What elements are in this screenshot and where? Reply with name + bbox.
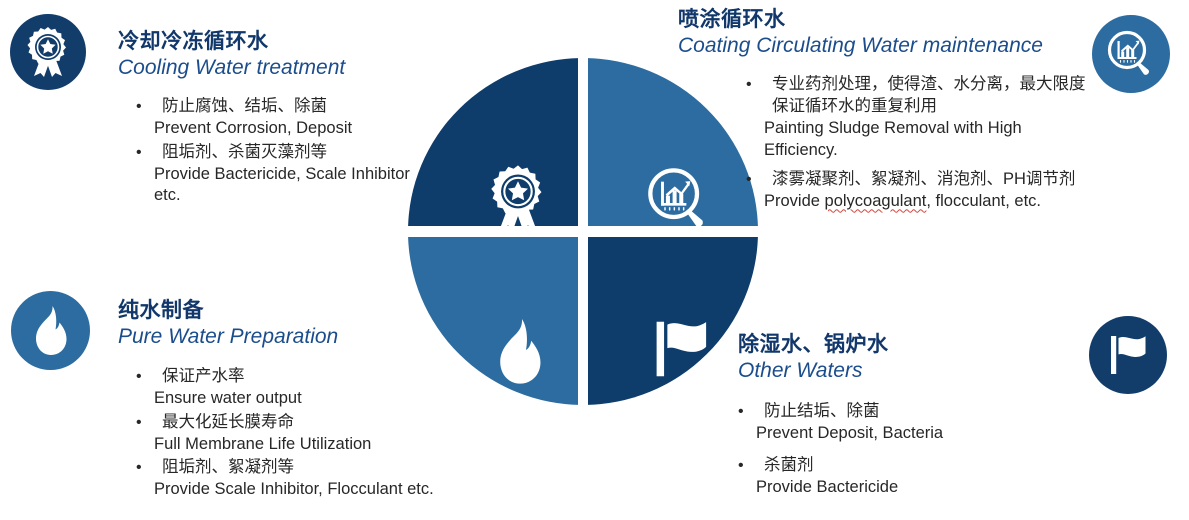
section-cooling-bullets: • 防止腐蚀、结垢、除菌 Prevent Corrosion, Deposit … (118, 96, 418, 208)
section-cooling-title-cn: 冷却冷冻循环水 (118, 30, 418, 54)
bullet-text-en: Prevent Deposit, Bacteria (756, 423, 1068, 445)
bullet-text-en: Prevent Corrosion, Deposit (154, 118, 418, 140)
bullet-marker: • (136, 142, 154, 163)
section-coating-water: 喷涂循环水 Coating Circulating Water maintena… (678, 8, 1098, 221)
chart-magnifier-icon (1107, 30, 1155, 78)
bullet-body: 保证产水率 Ensure water output (154, 366, 518, 410)
section-pure-title-cn: 纯水制备 (118, 299, 518, 323)
bullet-marker: • (136, 457, 154, 478)
bullet-body: 最大化延长膜寿命 Full Membrane Life Utilization (154, 412, 518, 456)
wheel-flag-icon-wrap (648, 316, 714, 382)
bullet-text-cn: 漆雾凝聚剂、絮凝剂、消泡剂、PH调节剂 (764, 169, 1098, 191)
flame-icon (493, 319, 547, 385)
bullet-marker: • (746, 74, 764, 95)
section-other-waters: 除湿水、锅炉水 Other Waters • 防止结垢、除菌 Prevent D… (738, 333, 1068, 508)
chart-magnifier-icon-circle (1092, 15, 1170, 93)
wheel-award-badge-icon-wrap (486, 166, 550, 230)
bullet-text-en-suffix: , flocculant, etc. (926, 192, 1041, 210)
bullet-marker: • (738, 401, 756, 422)
bullet-body: 防止结垢、除菌 Prevent Deposit, Bacteria (756, 401, 1068, 445)
bullet-text-en: Full Membrane Life Utilization (154, 434, 518, 456)
list-item: • 专业药剂处理，使得渣、水分离，最大限度保证循环水的重复利用 Painting… (746, 74, 1098, 162)
bullet-marker: • (136, 366, 154, 387)
section-coating-title-cn: 喷涂循环水 (678, 8, 1098, 32)
section-pure-water: 纯水制备 Pure Water Preparation • 保证产水率 Ensu… (118, 299, 518, 503)
bullet-marker: • (738, 455, 756, 476)
bullet-text-cn: 阻垢剂、絮凝剂等 (154, 457, 518, 479)
bullet-text-en: Provide Bactericide, Scale Inhibitor etc… (154, 164, 418, 208)
wheel-chart-magnifier-icon-wrap (646, 166, 712, 232)
list-item: • 阻垢剂、絮凝剂等 Provide Scale Inhibitor, Floc… (136, 457, 518, 501)
award-badge-icon-circle (10, 14, 86, 90)
award-badge-icon (25, 27, 71, 77)
bullet-text-cn: 最大化延长膜寿命 (154, 412, 518, 434)
flag-icon (1105, 332, 1151, 378)
bullet-text-cn: 保证产水率 (154, 366, 518, 388)
bullet-text-cn: 防止结垢、除菌 (756, 401, 1068, 423)
list-item: • 防止腐蚀、结垢、除菌 Prevent Corrosion, Deposit (136, 96, 418, 140)
section-other-bullets: • 防止结垢、除菌 Prevent Deposit, Bacteria • 杀菌… (738, 401, 1068, 499)
flame-icon (31, 306, 71, 356)
bullet-text-cn: 专业药剂处理，使得渣、水分离，最大限度保证循环水的重复利用 (764, 74, 1098, 118)
bullet-body: 阻垢剂、杀菌灭藻剂等 Provide Bactericide, Scale In… (154, 142, 418, 208)
misspelled-word[interactable]: polycoagulant (825, 192, 927, 210)
bullet-body: 阻垢剂、絮凝剂等 Provide Scale Inhibitor, Floccu… (154, 457, 518, 501)
bullet-body: 漆雾凝聚剂、絮凝剂、消泡剂、PH调节剂 Provide polycoagulan… (764, 169, 1098, 213)
list-item: • 阻垢剂、杀菌灭藻剂等 Provide Bactericide, Scale … (136, 142, 418, 208)
section-cooling-title-en: Cooling Water treatment (118, 55, 418, 80)
wheel-flame-icon-wrap (488, 320, 552, 384)
section-pure-bullets: • 保证产水率 Ensure water output • 最大化延长膜寿命 F… (118, 366, 518, 502)
section-pure-title-en: Pure Water Preparation (118, 324, 518, 349)
bullet-body: 专业药剂处理，使得渣、水分离，最大限度保证循环水的重复利用 Painting S… (764, 74, 1098, 162)
bullet-body: 防止腐蚀、结垢、除菌 Prevent Corrosion, Deposit (154, 96, 418, 140)
list-item: • 防止结垢、除菌 Prevent Deposit, Bacteria (738, 401, 1068, 445)
list-item: • 最大化延长膜寿命 Full Membrane Life Utilizatio… (136, 412, 518, 456)
bullet-text-en-mixed: Provide polycoagulant, flocculant, etc. (764, 191, 1098, 213)
bullet-marker: • (136, 96, 154, 117)
bullet-text-en: Provide Scale Inhibitor, Flocculant etc. (154, 479, 518, 501)
flag-icon-circle (1089, 316, 1167, 394)
bullet-text-en-prefix: Provide (764, 192, 825, 210)
award-badge-icon (488, 165, 548, 231)
section-other-title-en: Other Waters (738, 358, 1068, 383)
section-other-title-cn: 除湿水、锅炉水 (738, 333, 1068, 357)
chart-magnifier-icon (647, 167, 711, 231)
bullet-text-cn: 阻垢剂、杀菌灭藻剂等 (154, 142, 418, 164)
section-coating-bullets: • 专业药剂处理，使得渣、水分离，最大限度保证循环水的重复利用 Painting… (678, 74, 1098, 214)
flag-icon (648, 316, 714, 382)
list-item: • 保证产水率 Ensure water output (136, 366, 518, 410)
bullet-text-cn: 杀菌剂 (756, 455, 1068, 477)
section-coating-title-en: Coating Circulating Water maintenance (678, 33, 1098, 58)
bullet-text-en: Ensure water output (154, 388, 518, 410)
bullet-text-cn: 防止腐蚀、结垢、除菌 (154, 96, 418, 118)
bullet-text-en: Provide Bactericide (756, 477, 1068, 499)
bullet-text-en: Painting Sludge Removal with High Effici… (764, 118, 1098, 162)
bullet-marker: • (746, 169, 764, 190)
bullet-marker: • (136, 412, 154, 433)
list-item: • 漆雾凝聚剂、絮凝剂、消泡剂、PH调节剂 Provide polycoagul… (746, 169, 1098, 213)
bullet-body: 杀菌剂 Provide Bactericide (756, 455, 1068, 499)
list-item: • 杀菌剂 Provide Bactericide (738, 455, 1068, 499)
flame-icon-circle (11, 291, 90, 370)
section-cooling-water: 冷却冷冻循环水 Cooling Water treatment • 防止腐蚀、结… (118, 30, 418, 209)
